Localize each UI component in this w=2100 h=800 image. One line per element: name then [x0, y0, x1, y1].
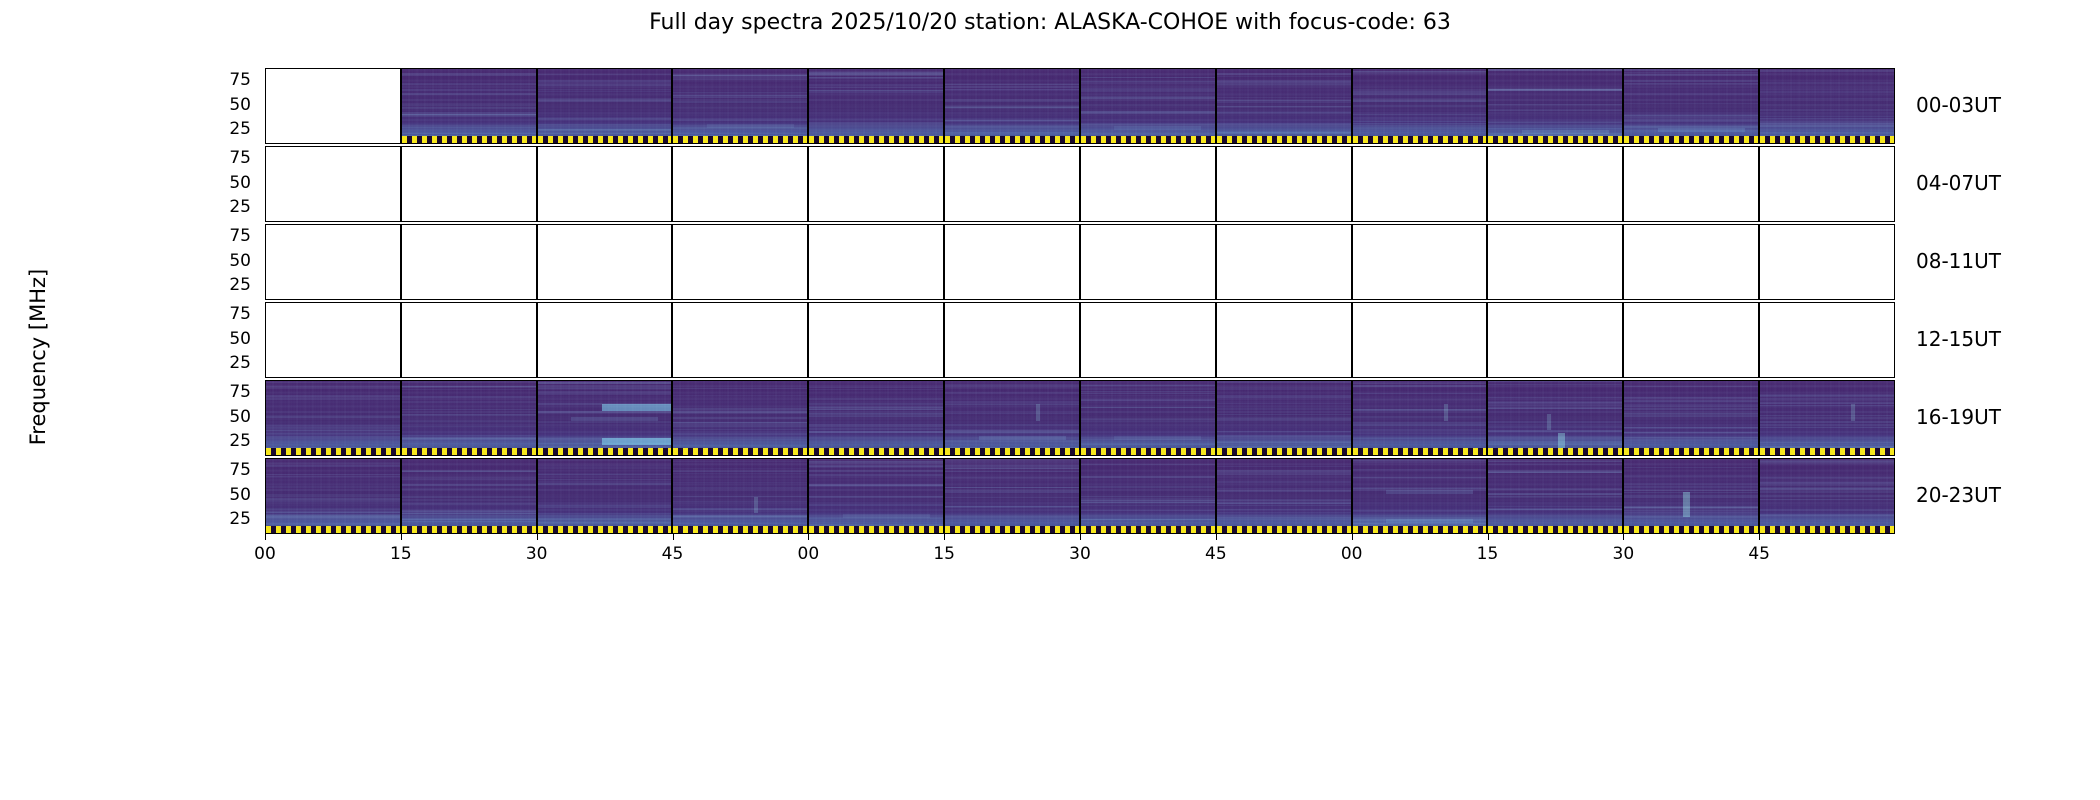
y-tick-mark: [1352, 183, 1353, 184]
burst-marker-strip: [1353, 136, 1487, 143]
x-tick-label: 45: [1739, 544, 1779, 564]
y-tick-mark: [944, 207, 945, 208]
y-tick-mark: [1623, 261, 1624, 262]
spectrogram-texture-line: [1353, 438, 1487, 440]
row-label-00-03ut: 00-03UT: [1916, 93, 2001, 117]
spectrogram-feature-horizontal-band: [1114, 436, 1201, 440]
y-tick-mark: [1352, 393, 1353, 394]
y-tick-mark: [672, 417, 673, 418]
spectrogram-panel[interactable]: [1487, 302, 1623, 378]
spectrogram-texture-line: [945, 386, 1079, 388]
spectrogram-texture-line: [673, 92, 807, 93]
y-tick-mark: [672, 339, 673, 340]
spectrogram-panel[interactable]: [537, 224, 673, 300]
spectrogram-panel[interactable]: [944, 302, 1080, 378]
spectrogram-image: [945, 381, 1079, 455]
spectrogram-panel[interactable]: [808, 302, 944, 378]
y-tick-mark: [944, 393, 945, 394]
spectrogram-texture-line: [1624, 467, 1758, 468]
spectrogram-image: [402, 459, 536, 533]
spectrogram-texture-line: [1488, 436, 1622, 438]
spectrogram-texture-line: [402, 127, 536, 128]
spectrogram-texture-line: [538, 467, 672, 468]
spectrogram-panel[interactable]: [1216, 380, 1352, 456]
spectrogram-panel[interactable]: [1623, 458, 1759, 534]
y-tick-mark: [808, 81, 809, 82]
spectrogram-panel[interactable]: [1623, 68, 1759, 144]
y-tick-mark: [672, 207, 673, 208]
spectrogram-texture-line: [266, 436, 400, 437]
y-tick-mark: [1080, 393, 1081, 394]
spectrogram-texture-line: [402, 519, 536, 520]
spectrogram-texture-line: [809, 518, 943, 520]
spectrogram-texture-line: [1488, 488, 1622, 490]
spectrogram-panel[interactable]: [265, 380, 401, 456]
spectrogram-panel[interactable]: [1080, 302, 1216, 378]
spectrogram-panel[interactable]: [808, 224, 944, 300]
burst-marker-strip: [1624, 448, 1758, 455]
spectrogram-panel[interactable]: [1216, 458, 1352, 534]
spectrogram-panel[interactable]: [265, 146, 401, 222]
spectrogram-panel[interactable]: [672, 380, 808, 456]
spectrogram-texture-line: [538, 479, 672, 480]
spectrogram-texture-line: [1217, 517, 1351, 519]
spectrogram-texture-line: [1217, 442, 1351, 443]
spectrogram-panel[interactable]: [1487, 146, 1623, 222]
x-tick-label: 15: [924, 544, 964, 564]
spectrogram-texture-line: [1760, 109, 1894, 111]
spectrogram-texture-line: [1488, 88, 1622, 90]
y-tick-mark: [1623, 495, 1624, 496]
spectrogram-panel[interactable]: [537, 68, 673, 144]
spectrogram-texture-line: [1624, 512, 1758, 514]
y-tick-mark: [1216, 207, 1217, 208]
spectrogram-texture-line: [266, 397, 400, 399]
y-tick-mark: [1080, 285, 1081, 286]
y-axis-label: Frequency [MHz]: [26, 227, 50, 487]
spectrogram-panel[interactable]: [401, 68, 537, 144]
spectrogram-texture-line: [673, 118, 807, 120]
spectrogram-panel[interactable]: [1487, 458, 1623, 534]
spectrogram-image: [945, 459, 1079, 533]
row-panels: [265, 380, 1895, 456]
spectrogram-texture-line: [1217, 131, 1351, 133]
spectrogram-texture-line: [809, 416, 943, 417]
burst-marker-strip: [1217, 136, 1351, 143]
y-tick-mark: [401, 393, 402, 394]
y-tick-mark: [265, 519, 266, 520]
y-tick-mark: [944, 81, 945, 82]
y-tick-mark: [1623, 471, 1624, 472]
spectrogram-texture-line: [538, 506, 672, 508]
y-tick-label: 25: [197, 199, 251, 216]
y-tick-mark: [1487, 159, 1488, 160]
y-tick-mark: [537, 261, 538, 262]
spectrogram-texture-line: [402, 426, 536, 428]
y-tick-mark: [808, 471, 809, 472]
burst-marker-strip: [402, 526, 536, 533]
spectrogram-panel[interactable]: [537, 146, 673, 222]
spectrogram-panel[interactable]: [265, 224, 401, 300]
y-tick-mark: [672, 159, 673, 160]
spectrogram-panel[interactable]: [265, 302, 401, 378]
y-tick-mark: [944, 261, 945, 262]
spectrogram-texture-line: [1081, 502, 1215, 503]
spectrogram-texture-line: [1217, 106, 1351, 108]
spectrogram-panel[interactable]: [537, 302, 673, 378]
spectrogram-panel[interactable]: [1216, 68, 1352, 144]
spectrogram-panel[interactable]: [1623, 380, 1759, 456]
spectrogram-panel[interactable]: [672, 146, 808, 222]
spectrogram-texture-line: [945, 101, 1079, 102]
y-tick-mark: [1487, 183, 1488, 184]
y-tick-mark: [1080, 363, 1081, 364]
spectrogram-texture-line: [538, 124, 672, 125]
spectrogram-panel[interactable]: [1352, 458, 1488, 534]
spectrogram-image: [1624, 69, 1758, 143]
spectrogram-panel[interactable]: [1216, 224, 1352, 300]
x-tick-mark: [1759, 534, 1760, 540]
spectrogram-texture-line: [402, 116, 536, 117]
spectrogram-panel[interactable]: [672, 224, 808, 300]
y-tick-mark: [1623, 237, 1624, 238]
spectrogram-panel[interactable]: [401, 458, 537, 534]
y-tick-mark: [808, 339, 809, 340]
spectrogram-texture-line: [673, 107, 807, 108]
y-tick-mark: [401, 441, 402, 442]
spectrogram-panel[interactable]: [401, 146, 537, 222]
y-tick-label: 25: [197, 433, 251, 450]
y-tick-mark: [808, 207, 809, 208]
y-tick-mark: [401, 81, 402, 82]
spectrogram-panel[interactable]: [672, 302, 808, 378]
spectrogram-texture-line: [1624, 80, 1758, 82]
spectrogram-texture-line: [1353, 382, 1487, 383]
y-tick-mark: [1216, 261, 1217, 262]
spectrogram-texture-line: [1217, 490, 1351, 492]
spectrogram-texture-line: [1624, 103, 1758, 105]
y-tick-mark: [672, 393, 673, 394]
spectrogram-row-08-11ut: 755025: [265, 224, 1895, 300]
y-tick-mark: [537, 183, 538, 184]
spectrogram-panel[interactable]: [1080, 224, 1216, 300]
spectrogram-texture-line: [945, 490, 1079, 492]
spectrogram-texture-line: [1353, 424, 1487, 426]
spectrogram-texture-line: [1624, 492, 1758, 493]
y-tick-mark: [672, 237, 673, 238]
spectrogram-image: [538, 381, 672, 455]
y-tick-mark: [1759, 471, 1760, 472]
y-tick-mark: [265, 261, 266, 262]
spectrogram-panel[interactable]: [1623, 302, 1759, 378]
spectrogram-texture-line: [1081, 123, 1215, 125]
y-tick-mark: [401, 207, 402, 208]
burst-marker-strip: [402, 136, 536, 143]
x-tick-label: 45: [653, 544, 693, 564]
y-tick-mark: [944, 159, 945, 160]
spectrogram-texture-line: [266, 416, 400, 418]
spectrogram-texture-line: [1081, 384, 1215, 386]
spectrogram-panel[interactable]: [401, 224, 537, 300]
spectrogram-texture-line: [1760, 400, 1894, 401]
y-tick-mark: [1759, 105, 1760, 106]
spectrogram-panel[interactable]: [265, 458, 401, 534]
spectrogram-texture-line: [538, 74, 672, 75]
spectrogram-panel[interactable]: [1759, 224, 1895, 300]
y-tick-mark: [537, 363, 538, 364]
spectrogram-texture-line: [1081, 464, 1215, 465]
spectrogram-texture-line: [673, 79, 807, 80]
y-tick-mark: [808, 417, 809, 418]
burst-marker-strip: [1217, 448, 1351, 455]
spectrogram-texture-line: [1624, 114, 1758, 116]
spectrogram-texture-line: [1353, 409, 1487, 411]
y-tick-mark: [1759, 363, 1760, 364]
spectrogram-panel[interactable]: [1487, 68, 1623, 144]
spectrogram-panel[interactable]: [1759, 458, 1895, 534]
y-tick-mark: [1487, 519, 1488, 520]
burst-marker-strip: [402, 448, 536, 455]
burst-marker-strip: [945, 136, 1079, 143]
row-label-16-19ut: 16-19UT: [1916, 405, 2001, 429]
spectrogram-texture-line: [538, 100, 672, 102]
y-tick-mark: [672, 261, 673, 262]
spectrogram-panel[interactable]: [672, 458, 808, 534]
spectrogram-texture-line: [402, 504, 536, 506]
y-tick-mark: [808, 129, 809, 130]
spectrogram-texture-line: [1760, 82, 1894, 84]
spectrogram-texture-line: [538, 391, 672, 393]
spectrogram-panel[interactable]: [672, 68, 808, 144]
y-tick-mark: [672, 129, 673, 130]
spectrogram-panel[interactable]: [1623, 224, 1759, 300]
spectrogram-texture-line: [945, 392, 1079, 394]
spectrogram-panel[interactable]: [1352, 380, 1488, 456]
x-tick-mark: [401, 534, 402, 540]
y-tick-mark: [1487, 285, 1488, 286]
row-panels: [265, 302, 1895, 378]
spectrogram-panel[interactable]: [1080, 380, 1216, 456]
burst-marker-strip: [1081, 448, 1215, 455]
spectrogram-texture-line: [945, 516, 1079, 518]
spectrogram-panel[interactable]: [1352, 302, 1488, 378]
y-tick-mark: [944, 495, 945, 496]
y-tick-mark: [944, 363, 945, 364]
y-tick-mark: [1352, 519, 1353, 520]
spectrogram-panel[interactable]: [537, 380, 673, 456]
spectrogram-texture-line: [673, 417, 807, 419]
spectrogram-texture-line: [1217, 518, 1351, 520]
spectrogram-texture-line: [809, 409, 943, 410]
spectrogram-texture-line: [945, 413, 1079, 414]
y-tick-mark: [537, 129, 538, 130]
spectrogram-texture-line: [1624, 408, 1758, 409]
spectrogram-texture-line: [945, 487, 1079, 489]
spectrogram-texture-line: [402, 409, 536, 410]
spectrogram-texture-line: [538, 98, 672, 100]
spectrogram-panel[interactable]: [944, 380, 1080, 456]
spectrogram-texture-line: [809, 87, 943, 88]
spectrogram-texture-line: [538, 518, 672, 520]
spectrogram-texture-line: [1353, 101, 1487, 103]
spectrogram-panel[interactable]: [1080, 68, 1216, 144]
y-tick-mark: [1759, 315, 1760, 316]
y-tick-mark: [1623, 183, 1624, 184]
y-tick-mark: [672, 495, 673, 496]
spectrogram-panel[interactable]: [537, 458, 673, 534]
spectrogram-texture-line: [1624, 400, 1758, 402]
y-tick-mark: [265, 339, 266, 340]
spectrogram-panel[interactable]: [265, 68, 401, 144]
y-tick-mark: [672, 363, 673, 364]
spectrogram-texture-line: [1217, 414, 1351, 415]
spectrogram-texture-line: [1081, 407, 1215, 408]
y-tick-mark: [672, 441, 673, 442]
row-label-08-11ut: 08-11UT: [1916, 249, 2001, 273]
spectrogram-texture-line: [1624, 120, 1758, 122]
spectrogram-panel[interactable]: [1487, 380, 1623, 456]
spectrogram-feature-vertical-burst: [1036, 404, 1040, 420]
spectrogram-texture-line: [1488, 381, 1622, 382]
spectrogram-panel[interactable]: [1759, 146, 1895, 222]
y-tick-label: 75: [197, 384, 251, 401]
spectrogram-texture-line: [1217, 435, 1351, 437]
y-tick-mark: [1216, 495, 1217, 496]
spectrogram-texture-line: [1081, 443, 1215, 445]
spectrogram-texture-line: [945, 477, 1079, 479]
figure-title: Full day spectra 2025/10/20 station: ALA…: [0, 10, 2100, 35]
row-panels: [265, 146, 1895, 222]
spectrogram-texture-line: [673, 473, 807, 474]
spectrogram-panel[interactable]: [808, 380, 944, 456]
y-tick-mark: [672, 315, 673, 316]
spectrogram-texture-line: [266, 430, 400, 432]
spectrogram-texture-line: [402, 114, 536, 116]
spectrogram-texture-line: [1488, 69, 1622, 70]
spectrogram-panel[interactable]: [1352, 68, 1488, 144]
spectrogram-row-04-07ut: 755025: [265, 146, 1895, 222]
spectrogram-image: [673, 459, 807, 533]
spectrogram-panel[interactable]: [401, 380, 537, 456]
spectrogram-texture-line: [538, 473, 672, 475]
spectrogram-texture-line: [402, 437, 536, 439]
spectrogram-texture-line: [1488, 508, 1622, 510]
spectrogram-texture-line: [1760, 123, 1894, 125]
x-tick-label: 30: [1603, 544, 1643, 564]
y-tick-mark: [265, 495, 266, 496]
spectrogram-panel[interactable]: [944, 146, 1080, 222]
spectrogram-texture-line: [673, 395, 807, 397]
spectrogram-panel[interactable]: [1759, 380, 1895, 456]
spectrogram-texture-line: [945, 432, 1079, 434]
spectrogram-image: [1488, 381, 1622, 455]
spectrogram-texture-line: [266, 476, 400, 477]
spectrogram-feature-horizontal-band: [707, 124, 794, 128]
spectrogram-texture-line: [1353, 399, 1487, 401]
spectrogram-texture-line: [1081, 498, 1215, 499]
spectrogram-texture-line: [1081, 418, 1215, 419]
y-tick-mark: [1080, 129, 1081, 130]
x-tick-mark: [673, 534, 674, 540]
x-tick-label: 30: [517, 544, 557, 564]
y-tick-mark: [944, 129, 945, 130]
y-tick-mark: [1487, 207, 1488, 208]
spectrogram-texture-line: [1624, 386, 1758, 388]
row-panels: [265, 68, 1895, 144]
spectrogram-image: [1081, 459, 1215, 533]
spectrogram-texture-line: [1760, 118, 1894, 120]
spectrogram-feature-horizontal-band: [571, 417, 658, 421]
spectrogram-texture-line: [402, 420, 536, 422]
spectrogram-texture-line: [673, 511, 807, 512]
spectrogram-layer-vnoise: [809, 381, 943, 455]
x-tick-label: 00: [245, 544, 285, 564]
spectrogram-panel[interactable]: [1759, 68, 1895, 144]
spectrogram-texture-line: [1217, 381, 1351, 383]
spectrogram-feature-vertical-burst: [1683, 492, 1690, 517]
spectrogram-panel[interactable]: [1080, 146, 1216, 222]
y-tick-mark: [265, 159, 266, 160]
y-tick-mark: [1080, 441, 1081, 442]
y-tick-mark: [1080, 81, 1081, 82]
y-tick-mark: [1759, 261, 1760, 262]
spectrogram-image: [809, 69, 943, 143]
spectrogram-texture-line: [1353, 416, 1487, 418]
spectrogram-texture-line: [402, 90, 536, 91]
spectrogram-panel[interactable]: [1623, 146, 1759, 222]
spectrogram-texture-line: [402, 488, 536, 490]
spectrogram-texture-line: [1488, 493, 1622, 495]
y-tick-mark: [537, 285, 538, 286]
burst-marker-strip: [1760, 136, 1894, 143]
spectrogram-panel[interactable]: [1352, 224, 1488, 300]
spectrogram-panel[interactable]: [944, 224, 1080, 300]
spectrogram-texture-line: [402, 496, 536, 498]
y-tick-mark: [808, 261, 809, 262]
y-tick-mark: [1759, 495, 1760, 496]
y-tick-mark: [401, 159, 402, 160]
x-axis: 001530450015304500153045: [265, 534, 1895, 574]
spectrogram-texture-line: [1624, 486, 1758, 488]
spectrogram-panel[interactable]: [944, 458, 1080, 534]
spectrogram-panel[interactable]: [1216, 146, 1352, 222]
spectrogram-panel[interactable]: [808, 68, 944, 144]
spectrogram-texture-line: [945, 497, 1079, 498]
spectrogram-panel[interactable]: [401, 302, 537, 378]
row-label-20-23ut: 20-23UT: [1916, 483, 2001, 507]
spectrogram-texture-line: [945, 401, 1079, 403]
spectrogram-texture-line: [1624, 69, 1758, 70]
spectrogram-panel[interactable]: [1759, 302, 1895, 378]
spectrogram-feature-horizontal-band: [1522, 130, 1609, 134]
burst-marker-strip: [673, 136, 807, 143]
spectrogram-panel[interactable]: [1487, 224, 1623, 300]
spectrogram-texture-line: [1217, 466, 1351, 467]
y-tick-mark: [1623, 207, 1624, 208]
spectrogram-panel[interactable]: [1080, 458, 1216, 534]
spectrogram-texture-line: [266, 465, 400, 467]
spectrogram-texture-line: [266, 433, 400, 434]
spectrogram-panel[interactable]: [1352, 146, 1488, 222]
spectrogram-panel[interactable]: [944, 68, 1080, 144]
spectrogram-panel[interactable]: [808, 458, 944, 534]
spectrogram-panel[interactable]: [808, 146, 944, 222]
spectrogram-texture-line: [1353, 127, 1487, 128]
spectrogram-panel[interactable]: [1216, 302, 1352, 378]
spectrogram-texture-line: [266, 387, 400, 389]
spectrogram-texture-line: [1488, 443, 1622, 445]
y-tick-mark: [401, 417, 402, 418]
